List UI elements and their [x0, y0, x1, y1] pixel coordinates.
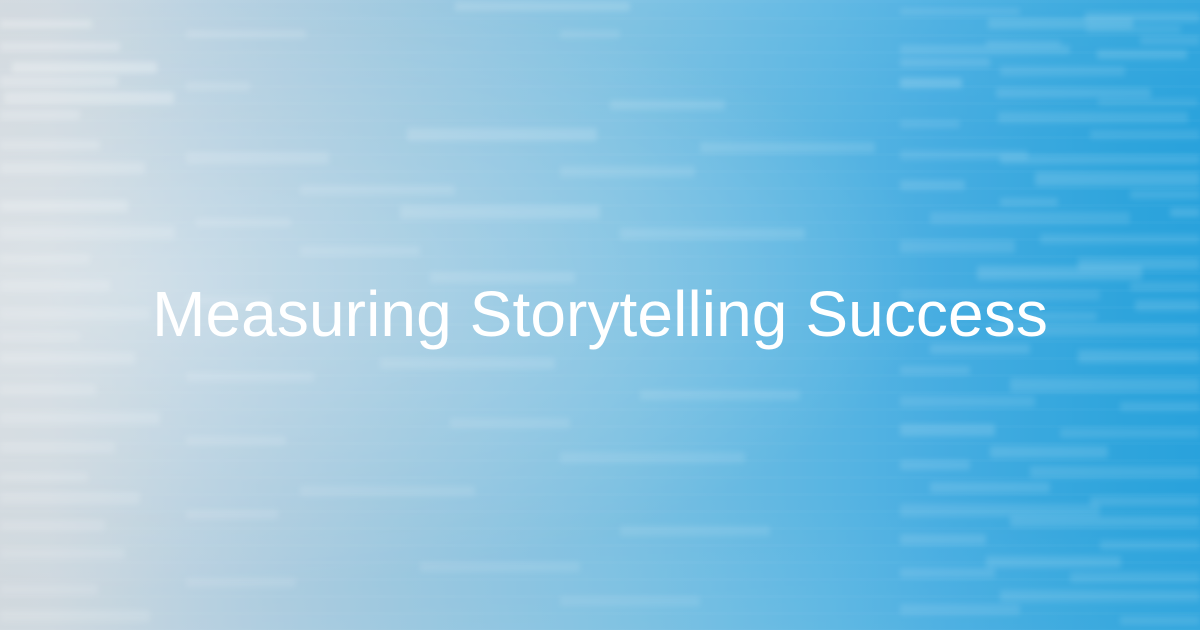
- banner-card: Measuring Storytelling Success: [0, 0, 1200, 630]
- banner-title: Measuring Storytelling Success: [152, 278, 1048, 352]
- title-container: Measuring Storytelling Success: [0, 0, 1200, 630]
